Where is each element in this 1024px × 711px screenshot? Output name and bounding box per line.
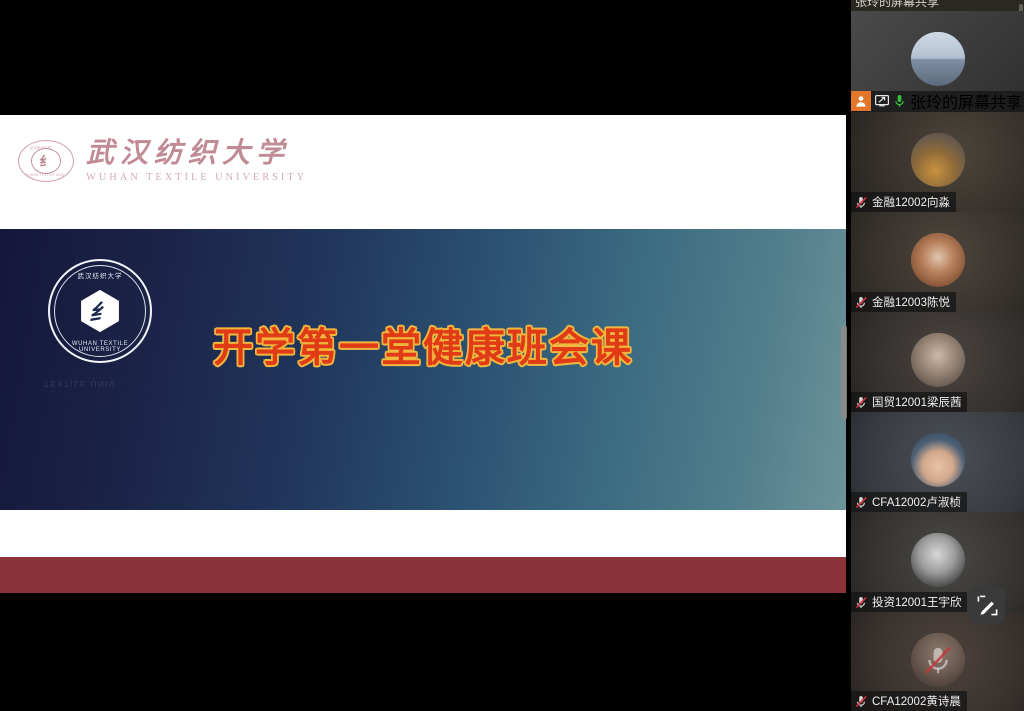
participant-name: 金融12003陈悦 (872, 294, 950, 310)
participant-name-bar: CFA12002黄诗晨 (851, 691, 967, 711)
avatar (911, 233, 965, 287)
avatar (911, 133, 965, 187)
university-name-cn: 武汉纺织大学 (86, 139, 307, 170)
avatar (911, 433, 965, 487)
zoom-meeting-window: 武汉纺织大学 WUHAN TEXTILE UNIV 纟 武汉纺织大学 WUHAN… (0, 0, 1024, 711)
slide-title-banner: 武汉纺织大学 纟 WUHAN TEXTILE UNIVERSITY TEXTIL… (0, 229, 846, 510)
university-seal-icon: 武汉纺织大学 WUHAN TEXTILE UNIV 纟 (18, 140, 74, 182)
participant-name-bar: 投资12001王宇欣 (851, 592, 967, 612)
presentation-slide: 武汉纺织大学 WUHAN TEXTILE UNIV 纟 武汉纺织大学 WUHAN… (0, 115, 846, 593)
participant-name: CFA12002黄诗晨 (872, 693, 961, 709)
university-logo: 武汉纺织大学 WUHAN TEXTILE UNIV 纟 武汉纺织大学 WUHAN… (18, 139, 307, 183)
participant-name: 金融12002向淼 (872, 194, 950, 210)
microphone-muted-icon (855, 396, 868, 409)
emblem-top-text: 武汉纺织大学 (50, 270, 150, 280)
participant-name-bar: 金融12002向淼 (851, 192, 956, 212)
avatar (911, 333, 965, 387)
participant-name: 张玲的屏幕共享 (910, 89, 1022, 111)
university-logo-text: 武汉纺织大学 WUHAN TEXTILE UNIVERSITY (86, 139, 307, 183)
annotate-button[interactable] (970, 588, 1005, 623)
microphone-muted-icon (855, 296, 868, 309)
shared-screen-viewport[interactable]: 武汉纺织大学 WUHAN TEXTILE UNIV 纟 武汉纺织大学 WUHAN… (0, 0, 851, 711)
strip-top-bar-label: 张玲的屏幕共享 (855, 0, 939, 10)
participant-name-bar: 国贸12001梁辰茜 (851, 392, 967, 412)
participant-name-bar: 张玲的屏幕共享 (851, 91, 1024, 111)
avatar (911, 533, 965, 587)
participant-tile[interactable]: 金融12002向淼 (851, 112, 1024, 212)
slide-title: 开学第一堂健康班会课 (0, 315, 846, 373)
avatar-image (911, 233, 965, 287)
microphone-muted-overlay-icon (911, 632, 965, 686)
seal-arc-top: 武汉纺织大学 (30, 145, 51, 150)
microphone-icon (894, 94, 905, 108)
microphone-muted-icon (855, 596, 868, 609)
screen-share-icon (875, 95, 889, 107)
university-name-en: WUHAN TEXTILE UNIVERSITY (86, 172, 307, 183)
avatar-image (911, 133, 965, 187)
seal-arc-text: 武汉纺织大学 WUHAN TEXTILE UNIV (19, 141, 73, 181)
participant-video-strip[interactable]: 张玲的屏幕共享 (851, 0, 1024, 711)
avatar-image (911, 32, 965, 86)
shared-screen-scrollbar[interactable] (841, 325, 847, 420)
participant-name: 投资12001王宇欣 (872, 594, 961, 610)
host-person-icon (851, 91, 871, 111)
participant-name-bar: CFA12002卢淑桢 (851, 492, 967, 512)
participant-name: 国贸12001梁辰茜 (872, 394, 961, 410)
avatar-image (911, 333, 965, 387)
emblem-reflection-text: TEXTILE UNIV (44, 379, 116, 388)
annotate-pencil-icon (977, 595, 998, 616)
avatar (911, 32, 965, 86)
participant-tile[interactable]: CFA12002卢淑桢 (851, 412, 1024, 512)
participant-name-bar: 金融12003陈悦 (851, 292, 956, 312)
participant-name: CFA12002卢淑桢 (872, 494, 961, 510)
avatar-image (911, 433, 965, 487)
participant-tile[interactable]: CFA12002黄诗晨 (851, 612, 1024, 711)
participant-tile[interactable]: 国贸12001梁辰茜 (851, 312, 1024, 412)
avatar-image (911, 533, 965, 587)
microphone-muted-icon (855, 695, 868, 708)
strip-top-bar: 张玲的屏幕共享 (851, 0, 1024, 11)
participant-tile[interactable]: 金融12003陈悦 (851, 212, 1024, 312)
microphone-muted-icon (855, 196, 868, 209)
slide-footer-bar (0, 557, 846, 593)
slide-header: 武汉纺织大学 WUHAN TEXTILE UNIV 纟 武汉纺织大学 WUHAN… (0, 115, 846, 229)
participant-tile-active-share[interactable]: 张玲的屏幕共享 (851, 11, 1024, 111)
seal-arc-bottom: WUHAN TEXTILE UNIV (25, 173, 65, 177)
microphone-muted-icon (855, 496, 868, 509)
